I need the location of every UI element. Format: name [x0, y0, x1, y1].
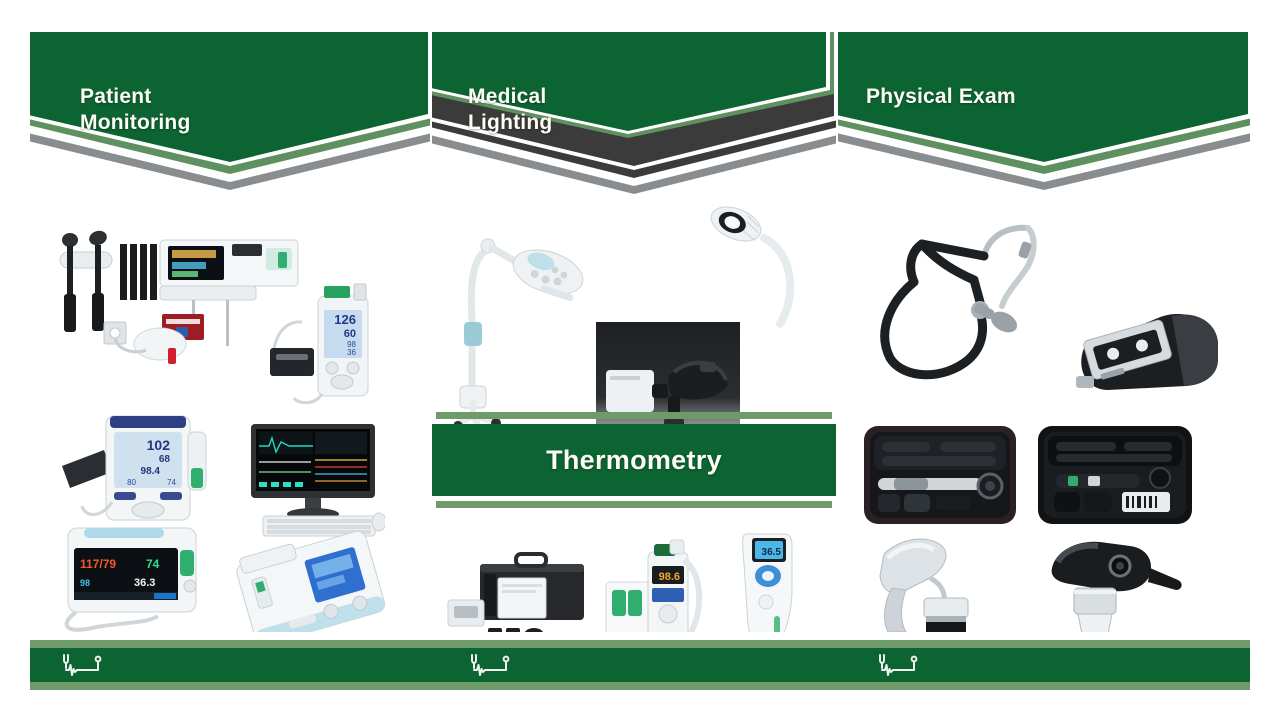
sub-banner-label: Thermometry — [546, 445, 722, 476]
column-title-physical-exam: Physical Exam — [866, 84, 1016, 110]
product-central-station-monitor — [245, 422, 385, 540]
svg-text:36.5: 36.5 — [762, 547, 782, 558]
svg-text:36: 36 — [347, 348, 356, 357]
svg-text:102: 102 — [147, 437, 171, 453]
footer-bar — [30, 640, 1250, 690]
product-ophthalmoscope-head — [866, 528, 996, 632]
product-suretemp-oral-thermometer: 98.6 — [604, 538, 710, 632]
svg-text:60: 60 — [344, 328, 356, 340]
product-diagnostic-set-case-black — [1034, 420, 1196, 530]
stethoscope-ekg-logo — [58, 651, 114, 679]
column-medical-lighting: Medical Lighting — [432, 32, 836, 632]
footer-band — [30, 648, 1250, 682]
svg-text:98.4: 98.4 — [141, 466, 161, 477]
slide-canvas: Patient Monitoring — [0, 0, 1280, 720]
svg-text:68: 68 — [159, 454, 171, 465]
banner-physical-exam — [838, 32, 1250, 202]
column-patient-monitoring: Patient Monitoring — [30, 32, 430, 632]
product-braun-thermoscan-thermometer: 36.5 — [724, 528, 802, 632]
sub-banner-rule-top — [436, 412, 832, 419]
stethoscope-ekg-logo — [466, 651, 522, 679]
product-stethoscope — [852, 210, 1052, 390]
stethoscope-ekg-logo — [874, 651, 930, 679]
sub-banner-thermometry: Thermometry — [432, 412, 836, 508]
svg-text:117/79: 117/79 — [80, 557, 116, 571]
svg-text:74: 74 — [167, 478, 176, 487]
product-diagnostic-set-case-silver — [860, 420, 1020, 530]
product-thermometer-calibration-kit — [446, 548, 596, 632]
product-connex-vital-signs-monitor: 117/79 74 98 36.3 — [54, 524, 222, 632]
footer-edge-top — [30, 640, 1250, 648]
svg-text:74: 74 — [146, 557, 160, 571]
svg-text:36.3: 36.3 — [134, 577, 155, 589]
sub-banner-plate: Thermometry — [432, 424, 836, 496]
product-otoscope-head — [1034, 532, 1184, 632]
column-title-patient-monitoring: Patient Monitoring — [80, 84, 190, 135]
svg-text:80: 80 — [127, 478, 136, 487]
svg-text:126: 126 — [334, 312, 356, 327]
product-wall-diagnostic-station — [42, 218, 302, 368]
footer-edge-bottom — [30, 682, 1250, 690]
svg-text:98: 98 — [80, 578, 90, 588]
svg-text:98.6: 98.6 — [659, 571, 680, 583]
column-title-medical-lighting: Medical Lighting — [468, 84, 552, 135]
column-physical-exam: Physical Exam — [838, 32, 1250, 632]
product-portable-patient-monitor — [228, 530, 394, 632]
product-mobile-exam-light-stand — [454, 210, 594, 440]
product-spot-vital-signs-monitor: 102 68 98.4 80 74 — [60, 410, 220, 530]
sub-banner-rule-bottom — [436, 501, 832, 508]
product-handheld-vitals-monitor: 126 60 98 36 — [268, 282, 378, 404]
product-retinal-imager — [1050, 290, 1226, 408]
